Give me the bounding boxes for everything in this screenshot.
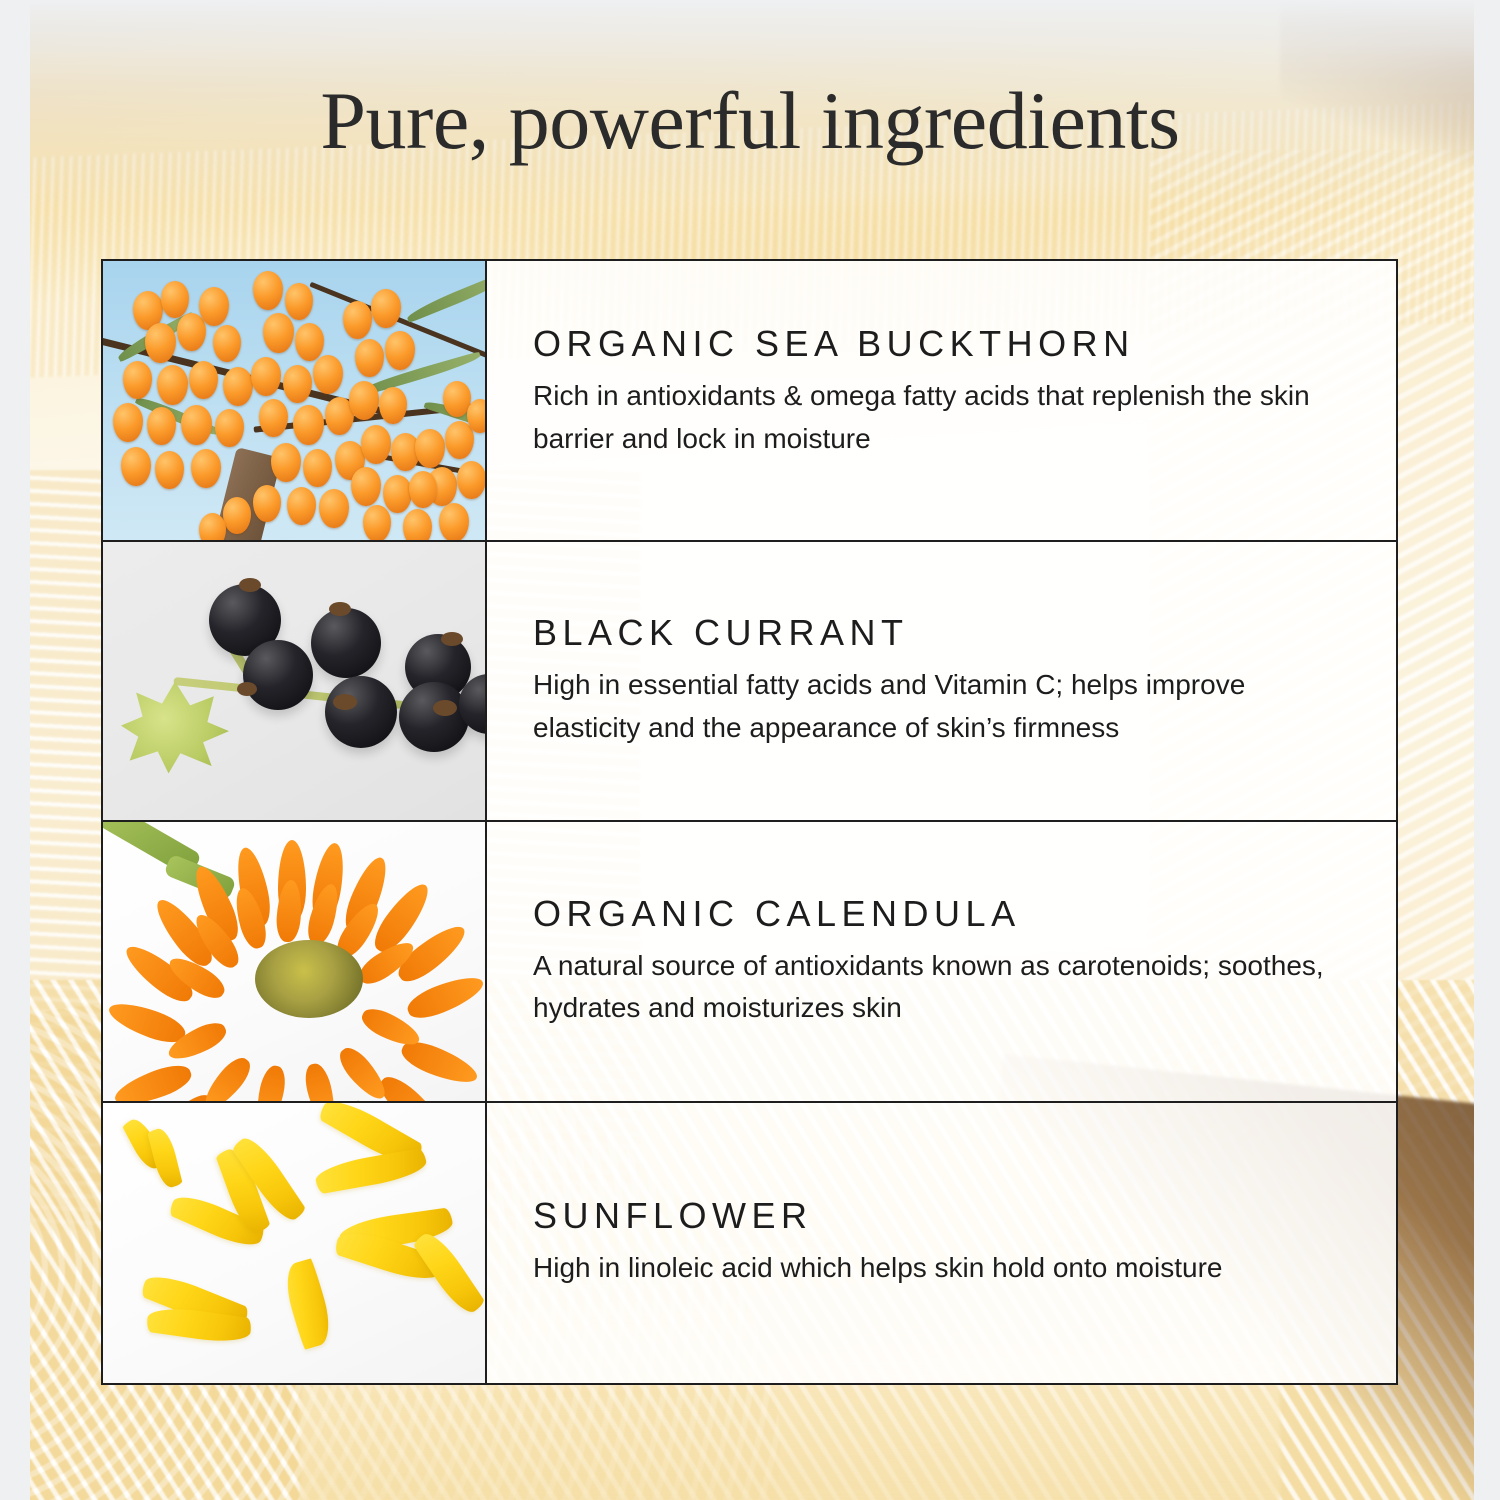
ingredient-name: ORGANIC CALENDULA <box>533 893 1350 935</box>
ingredients-table: ORGANIC SEA BUCKTHORN Rich in antioxidan… <box>101 259 1398 1385</box>
table-row: ORGANIC SEA BUCKTHORN Rich in antioxidan… <box>103 261 1396 542</box>
sea-buckthorn-photo <box>103 261 485 540</box>
ingredient-text-black-currant: BLACK CURRANT High in essential fatty ac… <box>487 542 1396 821</box>
sunflower-petals-photo <box>103 1103 485 1384</box>
calendula-photo <box>103 822 485 1101</box>
ingredient-image-sea-buckthorn <box>103 261 487 540</box>
ingredient-name: BLACK CURRANT <box>533 612 1350 654</box>
ingredient-description: High in essential fatty acids and Vitami… <box>533 664 1343 749</box>
ingredient-description: Rich in antioxidants & omega fatty acids… <box>533 375 1343 460</box>
ingredient-text-calendula: ORGANIC CALENDULA A natural source of an… <box>487 822 1396 1101</box>
ingredient-image-calendula <box>103 822 487 1101</box>
page-title: Pure, powerful ingredients <box>0 78 1500 164</box>
letterbox-right <box>1474 0 1500 1500</box>
ingredient-text-sea-buckthorn: ORGANIC SEA BUCKTHORN Rich in antioxidan… <box>487 261 1396 540</box>
black-currant-photo <box>103 542 485 821</box>
table-row: ORGANIC CALENDULA A natural source of an… <box>103 822 1396 1103</box>
table-row: BLACK CURRANT High in essential fatty ac… <box>103 542 1396 823</box>
ingredients-infographic: Pure, powerful ingredients <box>0 0 1500 1500</box>
table-row: SUNFLOWER High in linoleic acid which he… <box>103 1103 1396 1384</box>
ingredient-name: SUNFLOWER <box>533 1195 1350 1237</box>
ingredient-description: High in linoleic acid which helps skin h… <box>533 1247 1343 1290</box>
ingredient-image-sunflower <box>103 1103 487 1384</box>
ingredient-text-sunflower: SUNFLOWER High in linoleic acid which he… <box>487 1103 1396 1384</box>
ingredient-image-black-currant <box>103 542 487 821</box>
ingredient-description: A natural source of antioxidants known a… <box>533 945 1343 1030</box>
letterbox-left <box>0 0 30 1500</box>
ingredient-name: ORGANIC SEA BUCKTHORN <box>533 323 1350 365</box>
